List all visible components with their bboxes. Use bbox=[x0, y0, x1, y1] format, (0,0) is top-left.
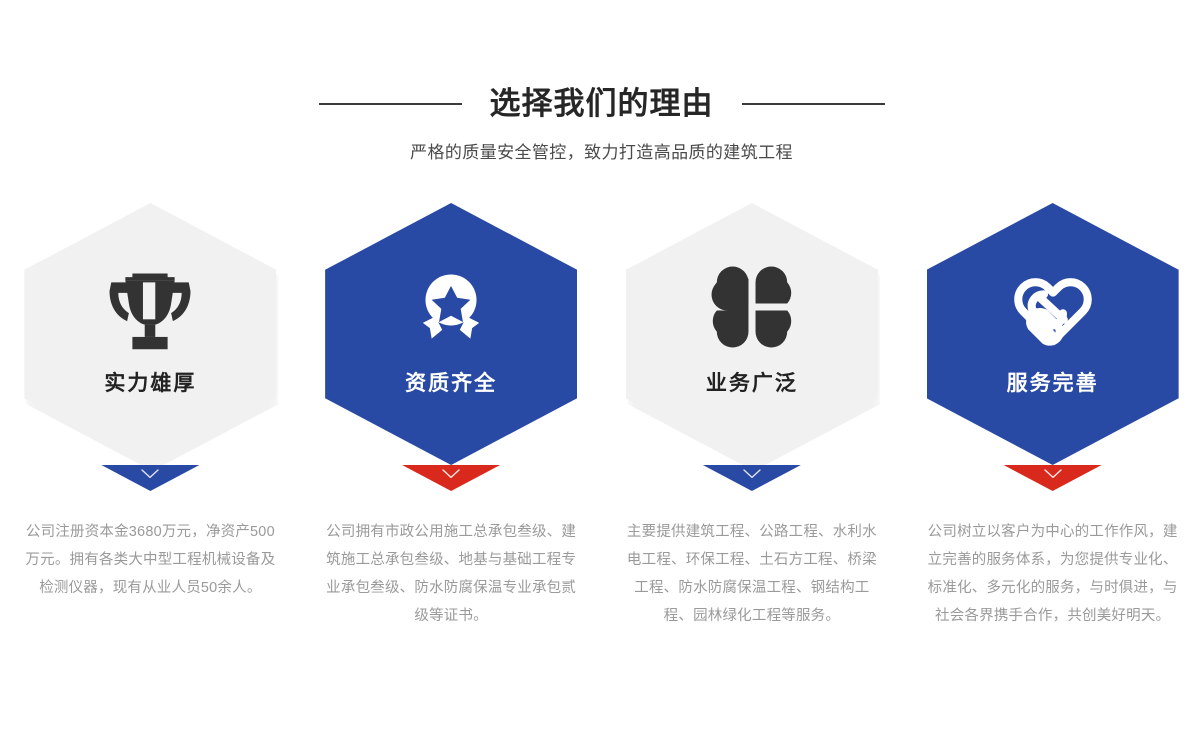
card-pointer-arrow bbox=[703, 465, 801, 491]
feature-card-qualification[interactable]: 资质齐全 公司拥有市政公用施工总承包叁级、建筑施工总承包叁级、地基与基础工程专业… bbox=[301, 196, 602, 686]
card-description: 公司注册资本金3680万元，净资产500万元。拥有各类大中型工程机械设备及检测仪… bbox=[21, 518, 279, 602]
chevron-down-icon bbox=[743, 469, 761, 479]
divider-line-right bbox=[742, 103, 885, 105]
hexagon-content: 资质齐全 bbox=[325, 203, 577, 465]
hexagon-badge[interactable]: 实力雄厚 bbox=[24, 203, 276, 493]
card-title: 实力雄厚 bbox=[104, 369, 196, 399]
page-title: 选择我们的理由 bbox=[490, 82, 714, 126]
hexagon-content: 实力雄厚 bbox=[24, 203, 276, 465]
card-description: 公司树立以客户为中心的工作作风，建立完善的服务体系，为您提供专业化、标准化、多元… bbox=[924, 518, 1182, 630]
hexagon-badge[interactable]: 资质齐全 bbox=[325, 203, 577, 493]
card-title: 资质齐全 bbox=[405, 369, 497, 399]
four-petal-icon bbox=[704, 259, 800, 355]
feature-card-service[interactable]: 服务完善 公司树立以客户为中心的工作作风，建立完善的服务体系，为您提供专业化、标… bbox=[902, 196, 1203, 686]
chevron-down-icon bbox=[442, 469, 460, 479]
title-row: 选择我们的理由 bbox=[0, 82, 1203, 126]
card-pointer-arrow bbox=[101, 465, 199, 491]
hexagon-badge[interactable]: 服务完善 bbox=[927, 203, 1179, 493]
section-header: 选择我们的理由 严格的质量安全管控，致力打造高品质的建筑工程 bbox=[0, 82, 1203, 166]
award-medal-icon bbox=[403, 259, 499, 355]
card-description: 公司拥有市政公用施工总承包叁级、建筑施工总承包叁级、地基与基础工程专业承包叁级、… bbox=[322, 518, 580, 630]
hexagon-content: 业务广泛 bbox=[626, 203, 878, 465]
chevron-down-icon bbox=[1044, 469, 1062, 479]
card-title: 服务完善 bbox=[1007, 369, 1099, 399]
feature-card-business[interactable]: 业务广泛 主要提供建筑工程、公路工程、水利水电工程、环保工程、土石方工程、桥梁工… bbox=[602, 196, 903, 686]
hexagon-badge[interactable]: 业务广泛 bbox=[626, 203, 878, 493]
card-pointer-arrow bbox=[1004, 465, 1102, 491]
chevron-down-icon bbox=[141, 469, 159, 479]
page-root: 选择我们的理由 严格的质量安全管控，致力打造高品质的建筑工程 bbox=[0, 0, 1203, 736]
trophy-icon bbox=[102, 259, 198, 355]
feature-card-list: 实力雄厚 公司注册资本金3680万元，净资产500万元。拥有各类大中型工程机械设… bbox=[0, 196, 1203, 686]
card-title: 业务广泛 bbox=[706, 369, 798, 399]
interlocking-heart-icon bbox=[1005, 259, 1101, 355]
feature-card-strength[interactable]: 实力雄厚 公司注册资本金3680万元，净资产500万元。拥有各类大中型工程机械设… bbox=[0, 196, 301, 686]
hexagon-content: 服务完善 bbox=[927, 203, 1179, 465]
page-subtitle: 严格的质量安全管控，致力打造高品质的建筑工程 bbox=[0, 140, 1203, 166]
card-description: 主要提供建筑工程、公路工程、水利水电工程、环保工程、土石方工程、桥梁工程、防水防… bbox=[623, 518, 881, 630]
divider-line-left bbox=[319, 103, 462, 105]
card-pointer-arrow bbox=[402, 465, 500, 491]
